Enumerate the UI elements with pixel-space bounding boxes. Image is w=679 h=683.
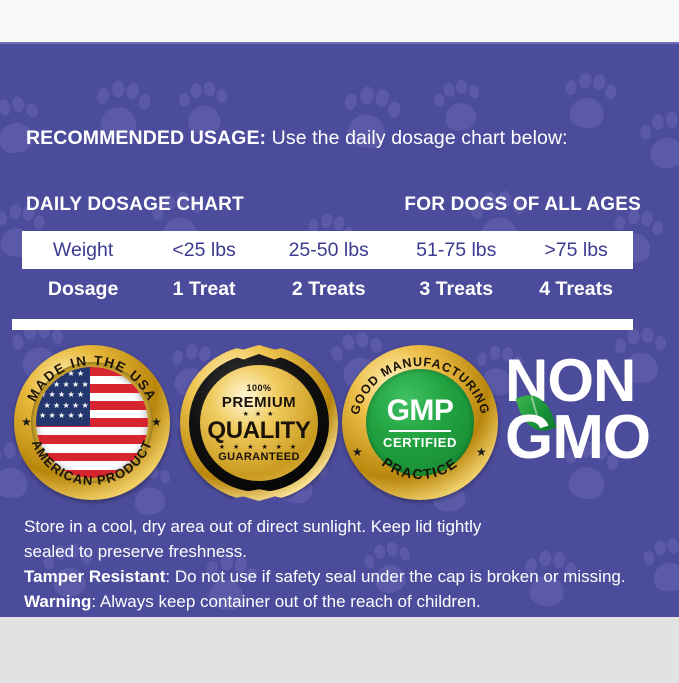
svg-text:GOOD MANUFACTURING: GOOD MANUFACTURING — [348, 355, 492, 416]
warning-line: Warning: Always keep container out of th… — [24, 589, 654, 614]
storage-line-2: sealed to preserve freshness. — [24, 539, 654, 564]
chart-heading-right: FOR DOGS OF ALL AGES — [404, 194, 641, 216]
cell-weight-2: 25-50 lbs — [264, 239, 393, 262]
recommended-usage-text: Use the daily dosage chart below: — [266, 127, 568, 149]
tamper-resistant-label: Tamper Resistant — [24, 567, 165, 586]
gmp-badge-curved-text: GOOD MANUFACTURING PRACTICE — [342, 345, 498, 500]
table-bottom-bar — [12, 319, 633, 330]
svg-text:MADE IN THE USA: MADE IN THE USA — [24, 353, 159, 404]
quality-word: QUALITY — [207, 419, 310, 443]
cell-dosage-label: Dosage — [22, 278, 144, 301]
bottom-gray-margin — [0, 617, 679, 683]
quality-premium: PREMIUM — [222, 395, 296, 410]
purple-info-panel: RECOMMENDED USAGE: Use the daily dosage … — [0, 42, 679, 617]
dosage-table: Weight <25 lbs 25-50 lbs 51-75 lbs >75 l… — [22, 231, 633, 309]
cell-dosage-2: 2 Treats — [264, 278, 393, 301]
table-row-dosage: Dosage 1 Treat 2 Treats 3 Treats 4 Treat… — [22, 269, 633, 309]
storage-and-warning-copy: Store in a cool, dry area out of direct … — [24, 514, 654, 614]
usa-badge-curved-text: MADE IN THE USA AMERICAN PRODUCT — [14, 345, 170, 500]
panel-top-highlight — [0, 42, 679, 44]
quality-stars-icon: ★ ★ ★ ★ ★ ★ — [219, 444, 299, 451]
warning-text: : Always keep container out of the reach… — [91, 592, 480, 611]
badge-made-in-usa: ★★★★★★★★★★★★★★★★★★★★★★★★★ ★ ★ MADE IN TH… — [14, 345, 174, 502]
tamper-resistant-text: : Do not use if safety seal under the ca… — [165, 567, 625, 586]
svg-text:AMERICAN PRODUCT: AMERICAN PRODUCT — [29, 438, 156, 489]
table-row-weight: Weight <25 lbs 25-50 lbs 51-75 lbs >75 l… — [22, 231, 633, 269]
cell-dosage-4: 4 Treats — [519, 278, 633, 301]
chart-headings: DAILY DOSAGE CHART FOR DOGS OF ALL AGES — [26, 194, 641, 216]
quality-guaranteed: GUARANTEED — [218, 452, 300, 463]
recommended-usage-line: RECOMMENDED USAGE: Use the daily dosage … — [26, 127, 568, 150]
svg-text:PRACTICE: PRACTICE — [379, 454, 460, 482]
warning-label: Warning — [24, 592, 91, 611]
badge-gmp-certified: GMP CERTIFIED ★ ★ GOOD MANUFACTURING PRA — [342, 345, 502, 502]
badge-non-gmo: NON GMO — [505, 351, 677, 497]
badge-quality-guaranteed: 100% PREMIUM ★ ★ ★ QUALITY ★ ★ ★ ★ ★ ★ G… — [180, 345, 340, 502]
cell-dosage-3: 3 Treats — [393, 278, 519, 301]
quality-percent: 100% — [246, 384, 271, 393]
cell-weight-label: Weight — [22, 239, 144, 262]
cell-dosage-1: 1 Treat — [144, 278, 264, 301]
chart-heading-left: DAILY DOSAGE CHART — [26, 194, 244, 216]
tamper-resistant-line: Tamper Resistant: Do not use if safety s… — [24, 564, 654, 589]
product-label-image: RECOMMENDED USAGE: Use the daily dosage … — [0, 0, 679, 683]
certification-badges: ★★★★★★★★★★★★★★★★★★★★★★★★★ ★ ★ MADE IN TH… — [0, 345, 679, 505]
cell-weight-1: <25 lbs — [144, 239, 264, 262]
quality-badge-face: 100% PREMIUM ★ ★ ★ QUALITY ★ ★ ★ ★ ★ ★ G… — [200, 365, 318, 481]
storage-line-1: Store in a cool, dry area out of direct … — [24, 514, 654, 539]
cell-weight-3: 51-75 lbs — [393, 239, 519, 262]
cell-weight-4: >75 lbs — [519, 239, 633, 262]
recommended-usage-label: RECOMMENDED USAGE: — [26, 127, 266, 149]
top-white-margin — [0, 0, 679, 42]
non-gmo-line2: GMO — [505, 407, 650, 469]
